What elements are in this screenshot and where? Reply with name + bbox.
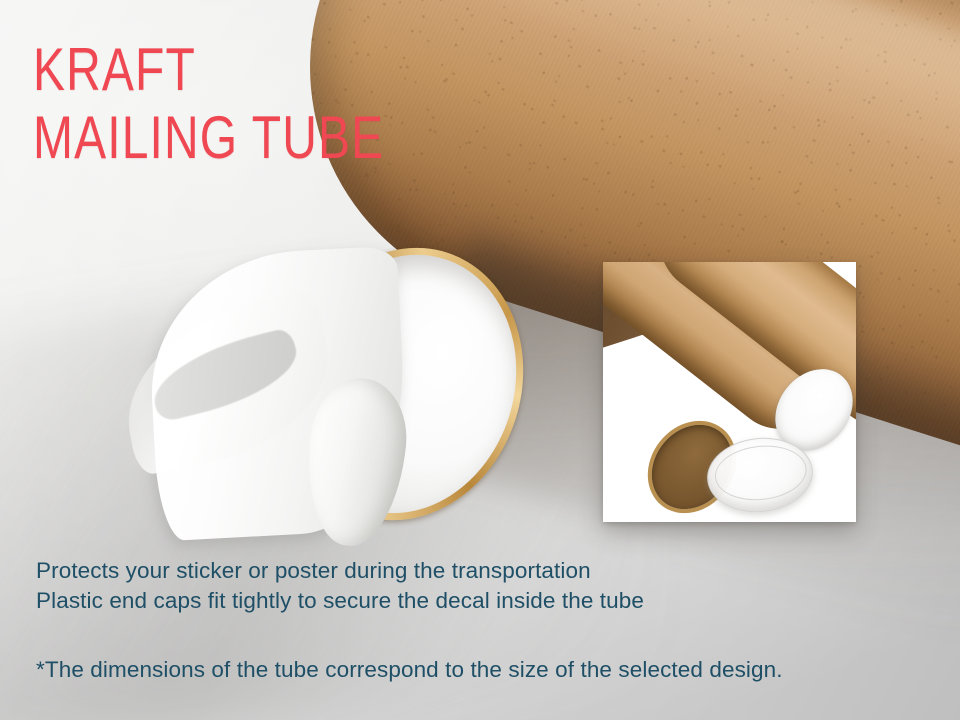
page-title: KRAFTMAILING TUBE (33, 36, 384, 172)
title-line-2: MAILING TUBE (33, 104, 384, 172)
white-poster-sheet (122, 252, 422, 537)
footnote: *The dimensions of the tube correspond t… (36, 655, 783, 685)
product-promo-image: KRAFTMAILING TUBE Protects your sticker … (0, 0, 960, 720)
inset-product-photo (603, 262, 856, 522)
body-copy: Protects your sticker or poster during t… (36, 556, 644, 616)
title-line-1: KRAFT (33, 36, 384, 104)
body-line-1: Protects your sticker or poster during t… (36, 556, 644, 586)
inset-photo-content (603, 262, 856, 522)
body-line-2: Plastic end caps fit tightly to secure t… (36, 586, 644, 616)
